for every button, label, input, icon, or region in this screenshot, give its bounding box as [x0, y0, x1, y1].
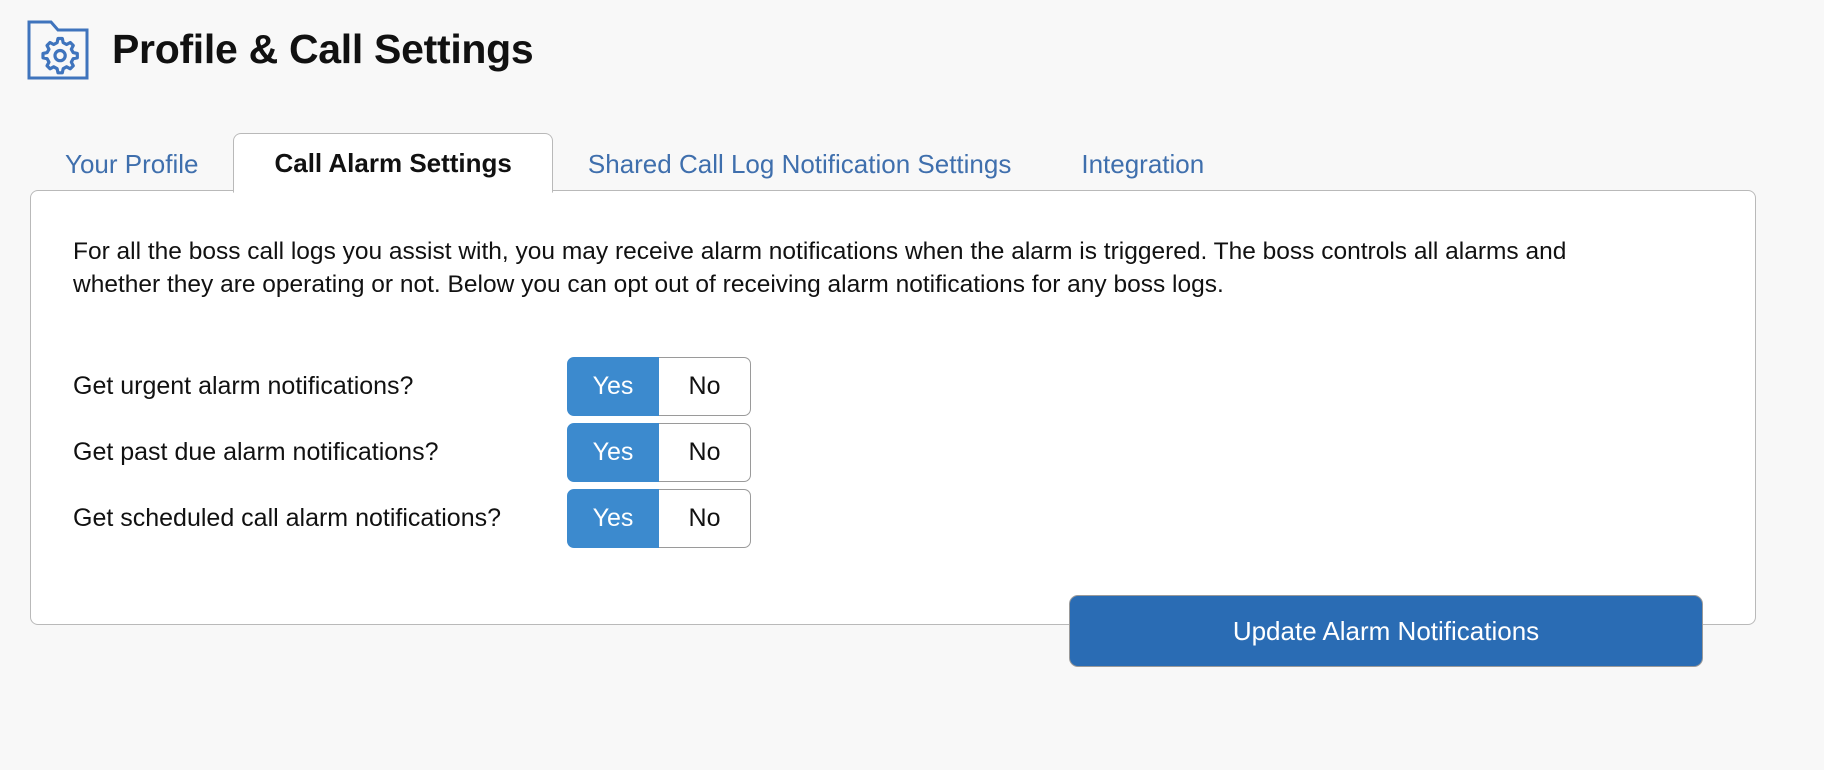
setting-row-past-due-alarm: Get past due alarm notifications? Yes No [73, 419, 1713, 485]
tab-bar: Your Profile Call Alarm Settings Shared … [30, 130, 1239, 192]
alarm-settings-list: Get urgent alarm notifications? Yes No G… [73, 353, 1713, 551]
toggle-group-urgent-alarm: Yes No [567, 357, 751, 416]
update-alarm-notifications-button[interactable]: Update Alarm Notifications [1069, 595, 1703, 667]
setting-label-past-due-alarm: Get past due alarm notifications? [73, 438, 567, 467]
setting-label-urgent-alarm: Get urgent alarm notifications? [73, 372, 567, 401]
toggle-past-due-alarm-yes[interactable]: Yes [567, 423, 659, 482]
toggle-past-due-alarm-no[interactable]: No [659, 423, 751, 482]
toggle-group-scheduled-call-alarm: Yes No [567, 489, 751, 548]
toggle-urgent-alarm-yes[interactable]: Yes [567, 357, 659, 416]
setting-row-urgent-alarm: Get urgent alarm notifications? Yes No [73, 353, 1713, 419]
tab-your-profile[interactable]: Your Profile [30, 134, 233, 192]
panel-description: For all the boss call logs you assist wi… [73, 236, 1618, 301]
toggle-scheduled-call-alarm-yes[interactable]: Yes [567, 489, 659, 548]
setting-label-scheduled-call-alarm: Get scheduled call alarm notifications? [73, 504, 567, 533]
page-header: Profile & Call Settings [26, 16, 533, 82]
call-alarm-settings-panel: For all the boss call logs you assist wi… [30, 190, 1756, 625]
toggle-urgent-alarm-no[interactable]: No [659, 357, 751, 416]
toggle-scheduled-call-alarm-no[interactable]: No [659, 489, 751, 548]
settings-page: Profile & Call Settings Your Profile Cal… [0, 0, 1824, 770]
page-title: Profile & Call Settings [112, 29, 533, 70]
tab-shared-call-log-notification-settings[interactable]: Shared Call Log Notification Settings [553, 134, 1046, 192]
tab-call-alarm-settings[interactable]: Call Alarm Settings [233, 133, 552, 193]
toggle-group-past-due-alarm: Yes No [567, 423, 751, 482]
tab-integration[interactable]: Integration [1046, 134, 1239, 192]
folder-gear-icon [26, 16, 90, 82]
setting-row-scheduled-call-alarm: Get scheduled call alarm notifications? … [73, 485, 1713, 551]
